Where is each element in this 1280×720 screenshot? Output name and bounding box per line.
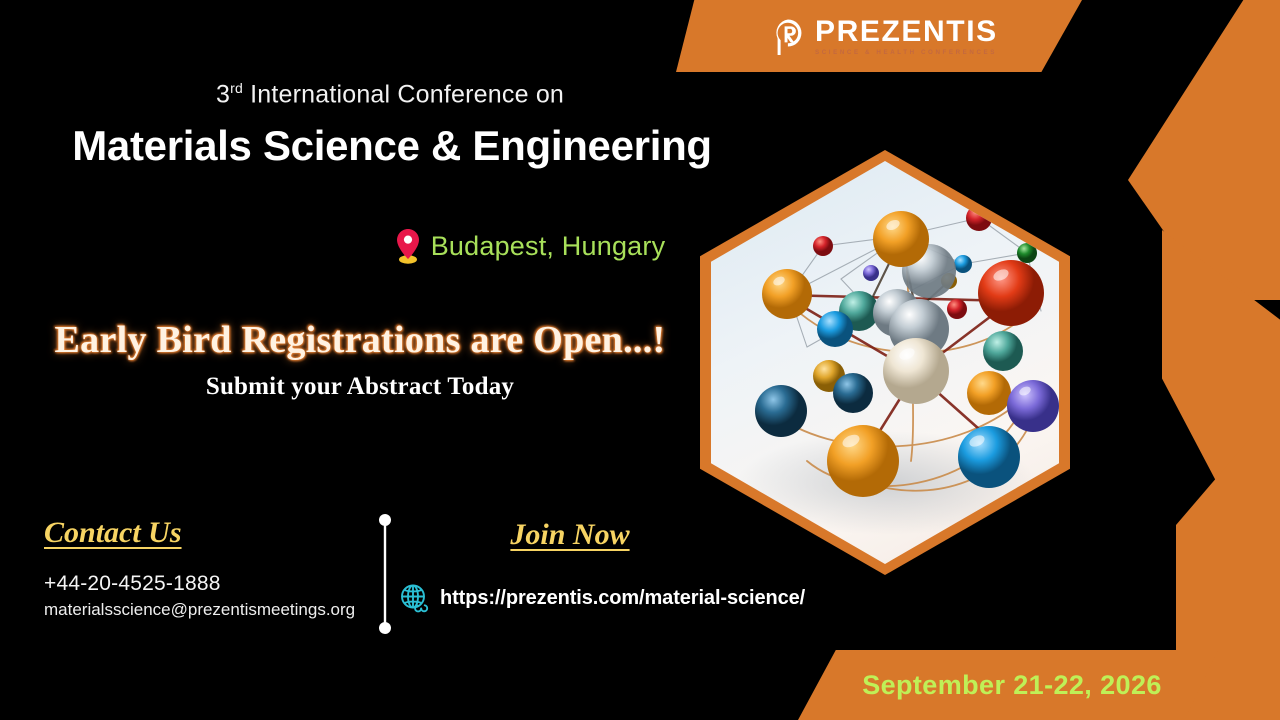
hero-image bbox=[711, 161, 1059, 564]
contact-us-heading: Contact Us bbox=[44, 516, 182, 550]
conference-dates: September 21-22, 2026 bbox=[862, 670, 1162, 701]
brand-logo[interactable]: PREZENTIS SCIENCE & HEALTH CONFERENCES bbox=[770, 10, 1030, 64]
contact-phone[interactable]: +44-20-4525-1888 bbox=[44, 572, 221, 596]
prezentis-r-monogram-icon bbox=[770, 17, 806, 57]
globe-link-icon bbox=[398, 582, 430, 614]
vertical-divider bbox=[378, 512, 392, 636]
molecular-structure-illustration bbox=[711, 161, 1059, 564]
conference-poster: PREZENTIS SCIENCE & HEALTH CONFERENCES 3… bbox=[0, 0, 1280, 720]
contact-email[interactable]: materialsscience@prezentismeetings.org bbox=[44, 600, 355, 620]
submit-abstract-cta: Submit your Abstract Today bbox=[20, 373, 700, 401]
early-bird-headline: Early Bird Registrations are Open...! bbox=[20, 318, 700, 362]
website-url[interactable]: https://prezentis.com/material-science/ bbox=[440, 587, 805, 610]
kicker-ordinal: rd bbox=[230, 80, 243, 96]
conference-kicker: 3rd International Conference on bbox=[60, 80, 720, 109]
website-row[interactable]: https://prezentis.com/material-science/ bbox=[398, 582, 805, 614]
join-now-heading: Join Now bbox=[455, 518, 685, 552]
kicker-number: 3 bbox=[216, 80, 230, 108]
brand-tagline: SCIENCE & HEALTH CONFERENCES bbox=[815, 50, 998, 56]
map-pin-icon bbox=[395, 228, 421, 264]
location-row: Budapest, Hungary bbox=[320, 228, 740, 264]
date-banner: September 21-22, 2026 bbox=[798, 650, 1218, 720]
right-chevron-top bbox=[1128, 0, 1280, 300]
brand-name: PREZENTIS bbox=[815, 17, 998, 47]
kicker-suffix: International Conference on bbox=[243, 80, 564, 108]
page-title: Materials Science & Engineering bbox=[42, 122, 742, 170]
hero-hexagon-frame bbox=[700, 150, 1070, 575]
location-text: Budapest, Hungary bbox=[431, 231, 666, 262]
